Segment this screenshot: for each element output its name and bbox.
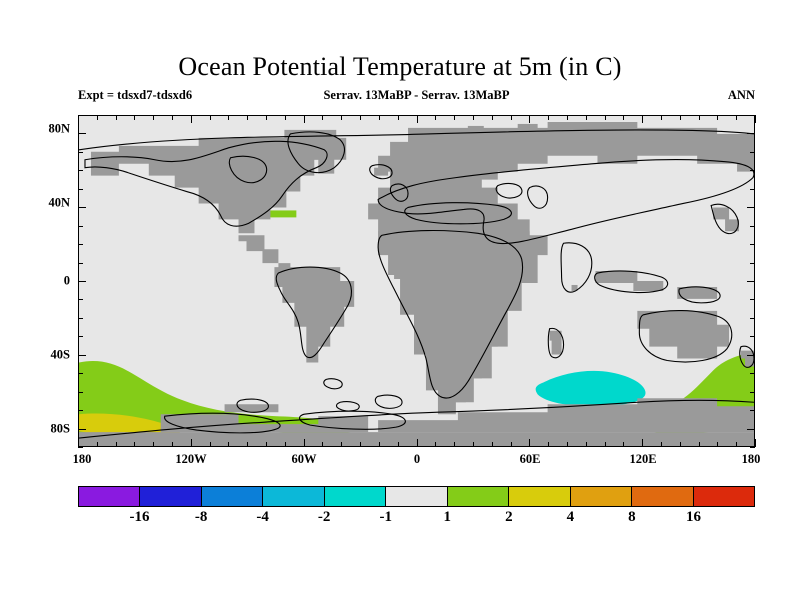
colorbar-tick-label-8: 8 <box>628 509 636 526</box>
x-axis-tick <box>78 439 79 447</box>
x-axis-tick <box>228 442 229 447</box>
x-axis-tick <box>586 115 587 120</box>
colorbar-tick-label-1: -8 <box>195 509 208 526</box>
x-axis-tick <box>304 439 305 447</box>
x-axis-tick <box>116 442 117 447</box>
y-axis-tick <box>750 299 755 300</box>
x-axis-tick <box>755 115 756 123</box>
x-axis-tick <box>322 115 323 120</box>
colorbar[interactable] <box>78 486 755 507</box>
x-axis-tick <box>172 442 173 447</box>
x-axis-tick <box>473 442 474 447</box>
x-axis-tick <box>78 115 79 123</box>
y-axis-tick <box>750 336 755 337</box>
period-label: ANN <box>728 88 755 103</box>
colorbar-tick-label-5: 1 <box>444 509 452 526</box>
x-axis-tick <box>285 442 286 447</box>
x-axis-tick <box>417 439 418 447</box>
y-axis-tick <box>78 207 86 208</box>
x-tick-label-60e: 60E <box>520 452 541 467</box>
comparison-label: Serrav. 13MaBP - Serrav. 13MaBP <box>78 88 755 103</box>
colorbar-tick-label-0: -16 <box>130 509 150 526</box>
y-axis-tick <box>747 133 755 134</box>
x-axis-tick <box>191 115 192 123</box>
x-axis-tick <box>548 115 549 120</box>
y-axis-tick <box>750 263 755 264</box>
x-axis-tick <box>473 115 474 120</box>
y-axis-tick <box>78 429 86 430</box>
y-axis-tick <box>78 447 83 448</box>
x-axis-tick <box>492 442 493 447</box>
y-axis-tick <box>750 410 755 411</box>
y-axis-tick <box>78 373 83 374</box>
x-axis-tick <box>341 115 342 120</box>
x-axis-tick <box>266 442 267 447</box>
x-axis-tick <box>341 442 342 447</box>
x-axis-tick <box>454 115 455 120</box>
x-axis-tick <box>717 115 718 120</box>
x-axis-tick <box>435 442 436 447</box>
x-axis-tick <box>623 115 624 120</box>
y-axis-tick <box>78 410 83 411</box>
x-axis-tick <box>548 442 549 447</box>
x-axis-tick <box>454 442 455 447</box>
colorbar-swatch-1 <box>140 487 201 506</box>
x-axis-tick <box>304 115 305 123</box>
x-axis-tick <box>153 115 154 120</box>
y-axis-tick <box>78 152 83 153</box>
x-axis-tick <box>191 439 192 447</box>
x-axis-tick <box>642 115 643 123</box>
colorbar-swatch-8 <box>571 487 632 506</box>
x-axis-tick <box>755 439 756 447</box>
x-axis-tick <box>511 442 512 447</box>
land-iceland <box>374 168 388 176</box>
colorbar-tick-label-2: -4 <box>256 509 269 526</box>
y-tick-label-40s: 40S <box>14 348 70 363</box>
colorbar-swatch-5 <box>386 487 447 506</box>
colorbar-swatch-3 <box>263 487 324 506</box>
x-axis-tick <box>699 115 700 120</box>
y-axis-tick <box>78 263 83 264</box>
x-axis-tick <box>736 442 737 447</box>
colorbar-swatch-9 <box>632 487 693 506</box>
y-axis-tick <box>747 429 755 430</box>
y-axis-tick <box>78 170 83 171</box>
colorbar-swatch-10 <box>694 487 754 506</box>
y-axis-tick <box>78 318 83 319</box>
y-axis-tick <box>78 115 83 116</box>
x-axis-tick <box>116 115 117 120</box>
x-tick-label-120w: 120W <box>175 452 206 467</box>
x-axis-tick <box>661 442 662 447</box>
y-axis-tick <box>750 226 755 227</box>
colorbar-swatch-2 <box>202 487 263 506</box>
x-axis-tick <box>417 115 418 123</box>
colorbar-swatch-0 <box>79 487 140 506</box>
x-axis-tick <box>586 442 587 447</box>
y-axis-tick <box>78 244 83 245</box>
x-axis-tick <box>134 442 135 447</box>
x-tick-label-120e: 120E <box>629 452 656 467</box>
subtitle-row: Expt = tdsxd7-tdsxd6 Serrav. 13MaBP - Se… <box>78 88 755 104</box>
y-axis-tick <box>750 152 755 153</box>
y-tick-label-0: 0 <box>14 274 70 289</box>
x-axis-tick <box>360 442 361 447</box>
y-axis-tick <box>78 299 83 300</box>
x-axis-tick <box>717 442 718 447</box>
x-axis-tick <box>379 442 380 447</box>
x-axis-tick <box>247 115 248 120</box>
x-axis-tick <box>266 115 267 120</box>
x-axis-tick <box>680 115 681 120</box>
x-axis-tick <box>699 442 700 447</box>
land-antarctic-islands <box>225 404 279 412</box>
y-axis-tick <box>750 115 755 116</box>
x-axis-tick <box>247 442 248 447</box>
y-axis-tick <box>747 281 755 282</box>
y-axis-tick <box>750 189 755 190</box>
x-tick-label-0: 0 <box>414 452 420 467</box>
x-axis-tick <box>360 115 361 120</box>
y-axis-tick <box>78 189 83 190</box>
x-axis-tick <box>153 442 154 447</box>
y-axis-tick <box>747 355 755 356</box>
y-axis-tick <box>78 133 86 134</box>
page-title: Ocean Potential Temperature at 5m (in C) <box>0 52 800 82</box>
map-plot-area[interactable] <box>78 115 755 447</box>
x-axis-tick <box>97 442 98 447</box>
x-tick-label-180w: 180 <box>73 452 92 467</box>
x-axis-tick <box>605 115 606 120</box>
x-axis-tick <box>210 442 211 447</box>
x-axis-tick <box>680 442 681 447</box>
y-axis-tick <box>78 336 83 337</box>
x-axis-tick <box>398 115 399 120</box>
x-axis-tick <box>529 439 530 447</box>
x-axis-tick <box>97 115 98 120</box>
y-tick-label-40n: 40N <box>14 196 70 211</box>
x-axis-tick <box>492 115 493 120</box>
x-axis-tick <box>210 115 211 120</box>
y-axis-tick <box>750 392 755 393</box>
y-axis-tick <box>750 244 755 245</box>
x-axis-tick <box>661 115 662 120</box>
colorbar-tick-label-9: 16 <box>686 509 701 526</box>
colorbar-swatch-6 <box>448 487 509 506</box>
x-tick-label-180e: 180 <box>742 452 761 467</box>
world-map-canvas <box>79 116 754 446</box>
x-axis-tick <box>623 442 624 447</box>
colorbar-tick-label-3: -2 <box>318 509 331 526</box>
x-axis-tick <box>642 439 643 447</box>
x-axis-tick <box>511 115 512 120</box>
colorbar-swatch-7 <box>509 487 570 506</box>
x-axis-tick <box>228 115 229 120</box>
x-axis-tick <box>736 115 737 120</box>
x-axis-tick <box>605 442 606 447</box>
colorbar-tick-label-7: 4 <box>567 509 575 526</box>
y-axis-tick <box>750 373 755 374</box>
y-tick-label-80n: 80N <box>14 122 70 137</box>
x-tick-label-60w: 60W <box>292 452 317 467</box>
colorbar-tick-label-6: 2 <box>505 509 513 526</box>
y-axis-tick <box>747 207 755 208</box>
colorbar-tick-label-4: -1 <box>379 509 392 526</box>
x-axis-tick <box>134 115 135 120</box>
x-axis-tick <box>567 115 568 120</box>
y-axis-tick <box>750 318 755 319</box>
x-axis-tick <box>398 442 399 447</box>
y-axis-tick <box>78 226 83 227</box>
y-tick-label-80s: 80S <box>14 422 70 437</box>
y-axis-tick <box>78 392 83 393</box>
x-axis-tick <box>322 442 323 447</box>
colorbar-swatch-4 <box>325 487 386 506</box>
x-axis-tick <box>435 115 436 120</box>
x-axis-tick <box>529 115 530 123</box>
y-axis-tick <box>750 170 755 171</box>
y-axis-tick <box>750 447 755 448</box>
y-axis-tick <box>78 281 86 282</box>
x-axis-tick <box>379 115 380 120</box>
x-axis-tick <box>172 115 173 120</box>
y-axis-tick <box>78 355 86 356</box>
x-axis-tick <box>567 442 568 447</box>
x-axis-tick <box>285 115 286 120</box>
